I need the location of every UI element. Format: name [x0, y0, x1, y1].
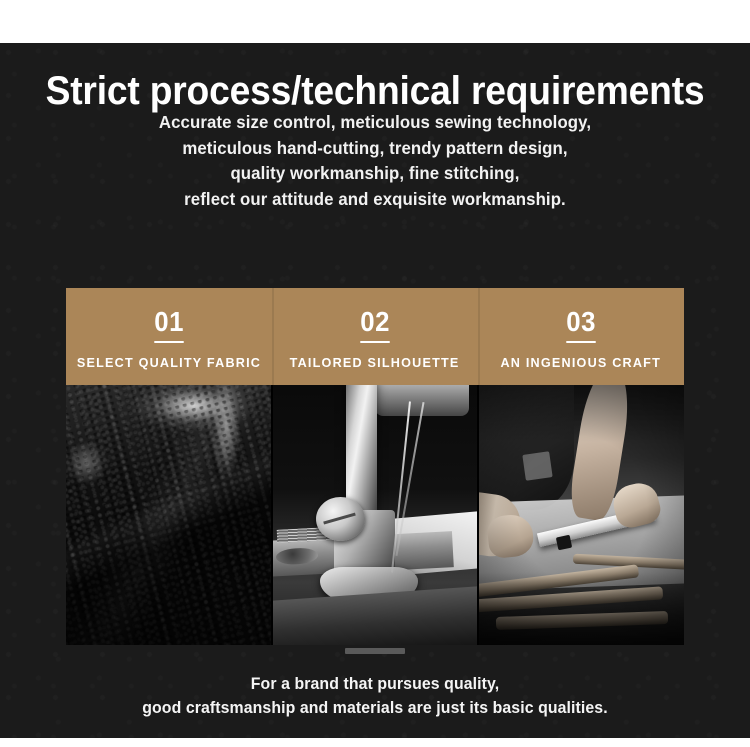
- step-photo-02-sewing-machine: [273, 385, 478, 645]
- sewing-machine-base: [273, 585, 478, 645]
- steps-header-band: 01 SELECT QUALITY FABRIC 02 TAILORED SIL…: [66, 288, 684, 385]
- step-number-01: 01: [154, 308, 184, 343]
- step-number-03: 03: [566, 308, 596, 343]
- step-photo-01-leather: [66, 385, 271, 645]
- footer-line-1: For a brand that pursues quality,: [15, 672, 735, 696]
- steps-photo-strip: [66, 385, 684, 645]
- step-label-02: TAILORED SILHOUETTE: [290, 355, 460, 370]
- subtitle-line-2: meticulous hand-cutting, trendy pattern …: [15, 136, 735, 162]
- sewing-needle-bar: [346, 385, 377, 515]
- step-header-03[interactable]: 03 AN INGENIOUS CRAFT: [478, 288, 684, 385]
- step-label-03: AN INGENIOUS CRAFT: [501, 355, 662, 370]
- subtitle-block: Accurate size control, meticulous sewing…: [15, 110, 735, 212]
- page-title: Strict process/technical requirements: [26, 69, 724, 113]
- sewing-thumb-screw: [316, 497, 365, 541]
- step-photo-03-craft: [479, 385, 684, 645]
- subtitle-line-4: reflect our attitude and exquisite workm…: [15, 187, 735, 213]
- step-label-01: SELECT QUALITY FABRIC: [77, 355, 261, 370]
- footer-block: For a brand that pursues quality, good c…: [15, 672, 735, 720]
- step-header-02[interactable]: 02 TAILORED SILHOUETTE: [272, 288, 478, 385]
- step-header-01[interactable]: 01 SELECT QUALITY FABRIC: [66, 288, 272, 385]
- section-divider-bar: [345, 648, 405, 654]
- promo-banner: Strict process/technical requirements Ac…: [0, 0, 750, 747]
- photo-vignette: [479, 385, 684, 645]
- footer-line-2: good craftsmanship and materials are jus…: [15, 696, 735, 720]
- subtitle-line-3: quality workmanship, fine stitching,: [15, 161, 735, 187]
- step-number-02: 02: [360, 308, 390, 343]
- subtitle-line-1: Accurate size control, meticulous sewing…: [15, 110, 735, 136]
